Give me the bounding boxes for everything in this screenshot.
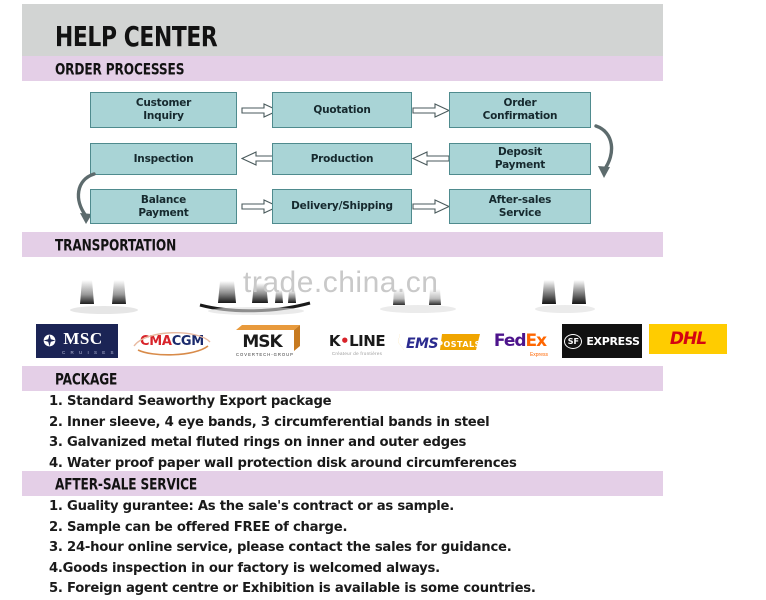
carrier-label-line: LINE [349, 332, 385, 350]
svg-text:MSK: MSK [242, 332, 283, 352]
cma-swoosh-icon [128, 326, 216, 356]
section-bar-transportation: TRANSPORTATION [22, 232, 663, 257]
flow-arrow-right-2 [412, 103, 450, 118]
flow-box-label: Production [311, 153, 374, 166]
list-item: 4.Goods inspection in our factory is wel… [22, 559, 662, 580]
flow-box-line2: Payment [495, 159, 545, 171]
flow-box-line1: Balance [141, 194, 186, 206]
ems-banner-icon: EMS POSTALS [396, 324, 480, 358]
flow-box-line1: After-sales [489, 194, 551, 206]
flow-box-line2: Payment [138, 207, 188, 219]
list-item: 3. 24-hour online service, please contac… [22, 538, 662, 559]
carrier-logo-k-line: K•LINE Créateur de frontières [314, 324, 400, 358]
carrier-sublabel-msc: C R U I S E S [62, 350, 116, 355]
section-bar-order-processes: ORDER PROCESSES [22, 56, 663, 81]
list-item: 2. Sample can be offered FREE of charge. [22, 518, 662, 539]
flow-box-label: Delivery/Shipping [291, 200, 393, 213]
section-label-after-sale-service: AFTER-SALE SERVICE [55, 474, 197, 493]
page-title: HELP CENTER [55, 20, 217, 53]
flow-arrow-left-2 [412, 151, 450, 166]
help-center-page: HELP CENTER ORDER PROCESSES CustomerInqu… [0, 0, 766, 598]
list-item: 2. Inner sleeve, 4 eye bands, 3 circumfe… [22, 413, 642, 434]
flow-box-label: Quotation [313, 104, 370, 117]
section-label-order-processes: ORDER PROCESSES [55, 59, 184, 78]
flow-box-label: Inspection [134, 153, 194, 166]
carrier-logo-fedex: FedEx Express [484, 324, 556, 358]
list-item: 5. Foreign agent centre or Exhibition is… [22, 579, 662, 600]
dhl-box: DHL [649, 324, 727, 354]
section-bar-after-sale-service: AFTER-SALE SERVICE [22, 471, 663, 496]
carrier-logo-sf-express: SF EXPRESS [562, 324, 642, 358]
ship-silhouette-icon [62, 276, 148, 320]
carrier-logo-dhl: DHL [649, 324, 650, 358]
svg-text:COVERTECH-GROUP: COVERTECH-GROUP [236, 352, 294, 357]
carrier-logo-cma-cgm: CMACGM [128, 324, 216, 358]
carrier-label-fed: Fed [494, 331, 526, 351]
list-item: 3. Galvanized metal fluted rings on inne… [22, 433, 642, 454]
watermark-text: trade.china.cn [243, 266, 438, 300]
ship-silhouette-icon [530, 276, 602, 320]
carrier-sublabel-fedex: Express [530, 352, 548, 358]
flow-box-order-confirmation: OrderConfirmation [449, 92, 591, 128]
list-item: 1. Guality gurantee: As the sale's contr… [22, 497, 662, 518]
carrier-label-dhl: DHL [670, 329, 706, 349]
flow-box-production: Production [272, 143, 412, 175]
carrier-logo-ems: EMS POSTALS [396, 324, 480, 358]
flow-box-line2: Inquiry [143, 110, 184, 122]
flow-box-delivery-shipping: Delivery/Shipping [272, 189, 412, 224]
section-bar-package: PACKAGE [22, 366, 663, 391]
flow-box-line2: Confirmation [483, 110, 558, 122]
carrier-dot-kline: • [340, 332, 349, 350]
flow-box-line1: Order [504, 97, 537, 109]
compass-star-icon [43, 334, 56, 347]
flow-arrow-right-4 [412, 199, 450, 214]
sf-mark-icon: SF [564, 334, 582, 349]
list-item: 1. Standard Seaworthy Export package [22, 392, 642, 413]
order-process-flowchart: CustomerInquiry Quotation OrderConfirmat… [0, 86, 766, 232]
carrier-logo-msk: MSK COVERTECH-GROUP [222, 324, 308, 358]
svg-text:EMS: EMS [406, 336, 438, 352]
package-list: 1. Standard Seaworthy Export package 2. … [22, 392, 642, 474]
flow-box-balance-payment: BalancePayment [90, 189, 237, 224]
flow-box-deposit-payment: DepositPayment [449, 143, 591, 175]
carrier-sublabel-k-line: Créateur de frontières [314, 351, 400, 356]
flow-box-line1: Customer [136, 97, 191, 109]
svg-text:POSTALS: POSTALS [437, 340, 480, 349]
flow-box-inspection: Inspection [90, 143, 237, 175]
section-label-transportation: TRANSPORTATION [55, 235, 176, 254]
carrier-label-k: K [329, 332, 340, 350]
flow-box-customer-inquiry: CustomerInquiry [90, 92, 237, 128]
carrier-label-ex: Ex [526, 331, 547, 351]
flow-box-line2: Service [499, 207, 541, 219]
flow-box-line1: Deposit [498, 146, 542, 158]
flow-box-after-sales-service: After-salesService [449, 189, 591, 224]
section-label-package: PACKAGE [55, 369, 117, 388]
flow-box-quotation: Quotation [272, 92, 412, 128]
after-sale-list: 1. Guality gurantee: As the sale's contr… [22, 497, 662, 600]
carrier-logo-row: MSC C R U I S E S CMACGM MSK COVERTECH-G… [22, 324, 663, 362]
flow-connector-right-curve [592, 122, 626, 184]
carrier-label-sf-express: EXPRESS [586, 335, 639, 348]
carrier-label-msc: MSC [63, 329, 102, 349]
carrier-logo-msc: MSC C R U I S E S [36, 324, 118, 358]
msk-box-icon: MSK COVERTECH-GROUP [222, 324, 308, 358]
